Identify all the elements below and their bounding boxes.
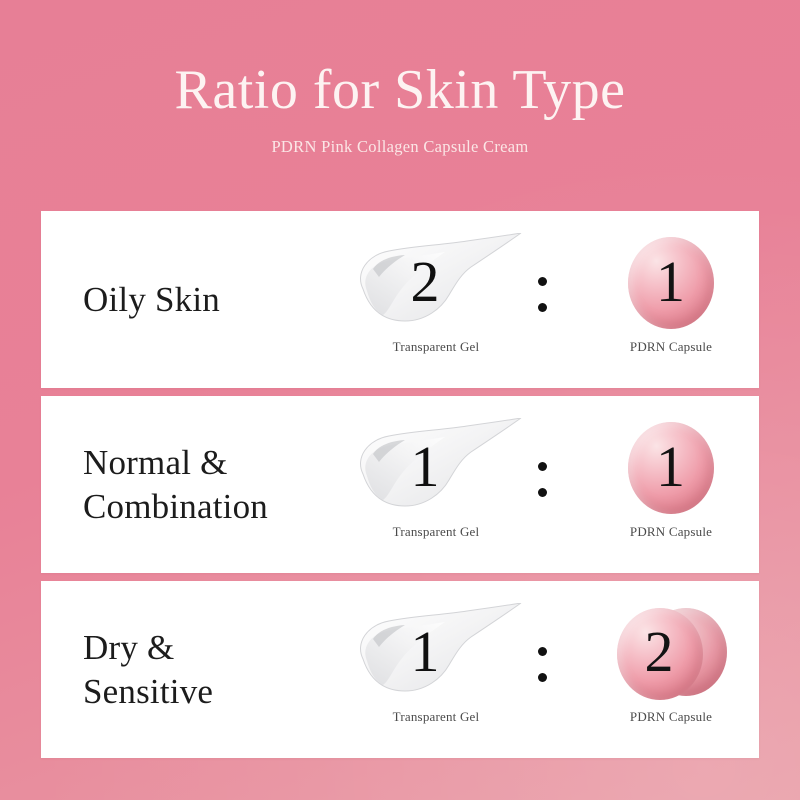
capsule-caption: PDRN Capsule (576, 339, 766, 355)
capsule-amount-value: 1 (600, 248, 741, 315)
pdrn-capsule-icon: 2 (601, 603, 741, 703)
page-title: Ratio for Skin Type (0, 62, 800, 118)
ratio-row-oily-skin: Oily Skin (41, 211, 759, 388)
page-subtitle: PDRN Pink Collagen Capsule Cream (0, 137, 800, 157)
capsule-caption: PDRN Capsule (576, 709, 766, 725)
gel-amount-value: 2 (327, 248, 524, 315)
gel-amount-value: 1 (327, 433, 524, 500)
ratio-row-dry-sensitive: Dry & Sensitive 1 Transparent Gel 2 PDRN (41, 581, 759, 758)
capsule-amount-group: 2 PDRN Capsule (576, 603, 766, 738)
ratio-row-normal-combination: Normal & Combination 1 Transparent Gel 1… (41, 396, 759, 573)
skin-type-label: Oily Skin (83, 278, 220, 322)
gel-caption: Transparent Gel (341, 709, 531, 725)
ratio-card-list: Oily Skin (41, 211, 759, 758)
capsule-amount-group: 1 PDRN Capsule (576, 233, 766, 368)
capsule-amount-group: 1 PDRN Capsule (576, 418, 766, 553)
ratio-separator (532, 647, 552, 693)
gel-caption: Transparent Gel (341, 339, 531, 355)
transparent-gel-icon: 2 (349, 233, 524, 333)
gel-amount-value: 1 (327, 618, 524, 685)
gel-amount-group: 1 Transparent Gel (341, 418, 531, 553)
transparent-gel-icon: 1 (349, 603, 524, 703)
gel-amount-group: 2 Transparent Gel (341, 233, 531, 368)
capsule-amount-value: 2 (577, 618, 741, 685)
capsule-caption: PDRN Capsule (576, 524, 766, 540)
skin-type-label: Dry & Sensitive (83, 626, 213, 714)
skin-type-label: Normal & Combination (83, 441, 268, 529)
pdrn-capsule-icon: 1 (601, 418, 741, 518)
capsule-amount-value: 1 (600, 433, 741, 500)
gel-amount-group: 1 Transparent Gel (341, 603, 531, 738)
transparent-gel-icon: 1 (349, 418, 524, 518)
gel-caption: Transparent Gel (341, 524, 531, 540)
ratio-separator (532, 277, 552, 323)
ratio-separator (532, 462, 552, 508)
page-header: Ratio for Skin Type PDRN Pink Collagen C… (0, 0, 800, 157)
pdrn-capsule-icon: 1 (601, 233, 741, 333)
